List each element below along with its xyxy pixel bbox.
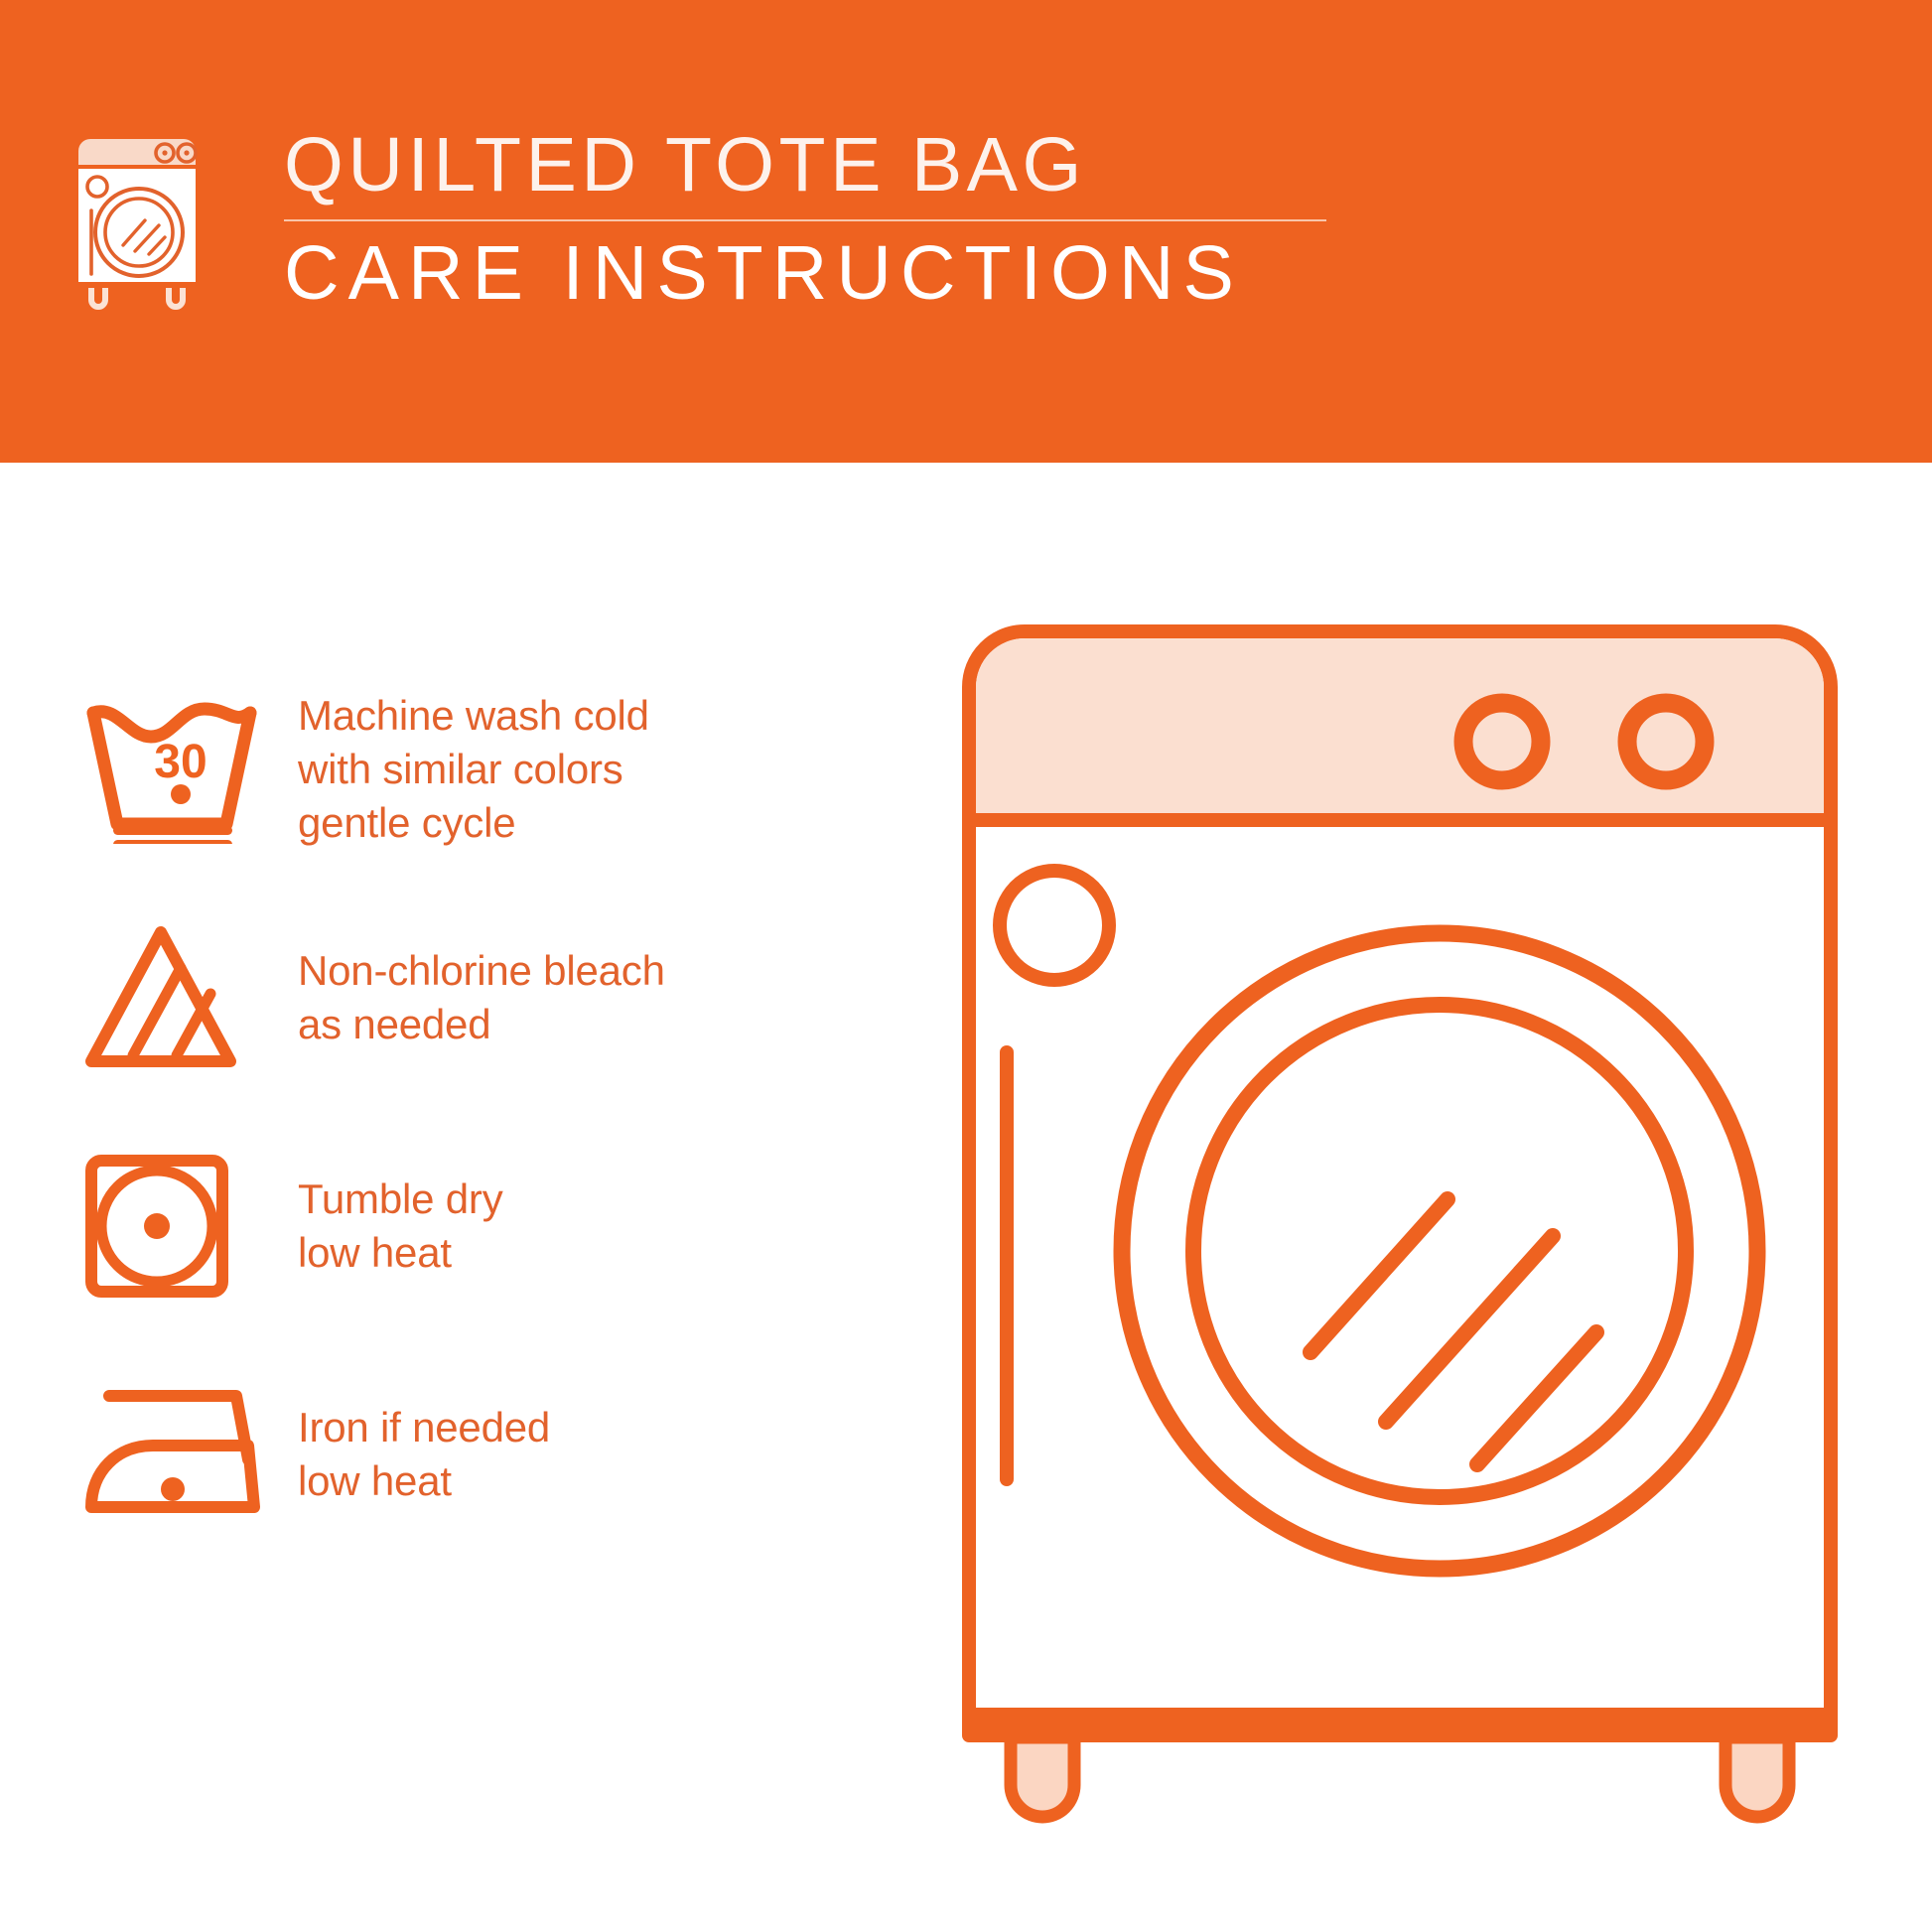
iron-icon xyxy=(77,1380,266,1529)
care-row-tumble-dry: Tumble dry low heat xyxy=(0,1112,953,1340)
care-text-machine-wash: Machine wash cold with similar colors ge… xyxy=(298,689,649,849)
title-divider xyxy=(284,219,1326,221)
leg-right xyxy=(1725,1737,1789,1817)
care-text-bleach: Non-chlorine bleach as needed xyxy=(298,944,665,1051)
bleach-triangle-icon xyxy=(77,918,266,1077)
leg-left xyxy=(1011,1737,1074,1817)
header-title-group: QUILTED TOTE BAG CARE INSTRUCTIONS xyxy=(284,127,1326,312)
care-symbol xyxy=(77,1147,272,1306)
machine-base-bar xyxy=(969,1708,1831,1737)
washing-machine-icon xyxy=(69,133,216,318)
care-symbol: 30 xyxy=(77,695,272,844)
care-symbol xyxy=(77,1380,272,1529)
wash-tub-30-icon: 30 xyxy=(77,695,266,844)
care-instructions-list: 30 Machine wash cold with similar colors… xyxy=(0,655,953,1569)
care-symbol xyxy=(77,918,272,1077)
page-subtitle: CARE INSTRUCTIONS xyxy=(284,235,1326,312)
page-title: QUILTED TOTE BAG xyxy=(284,127,1326,204)
tumble-dry-square-icon xyxy=(77,1147,266,1306)
care-row-machine-wash: 30 Machine wash cold with similar colors… xyxy=(0,655,953,884)
care-text-tumble-dry: Tumble dry low heat xyxy=(298,1173,503,1280)
care-row-iron: Iron if needed low heat xyxy=(0,1340,953,1569)
care-row-bleach: Non-chlorine bleach as needed xyxy=(0,884,953,1112)
care-text-iron: Iron if needed low heat xyxy=(298,1401,550,1508)
front-load-washing-machine-illustration xyxy=(953,616,1906,1837)
header-band: QUILTED TOTE BAG CARE INSTRUCTIONS xyxy=(0,0,1932,463)
wash-temp-label: 30 xyxy=(154,736,207,788)
header-content: QUILTED TOTE BAG CARE INSTRUCTIONS xyxy=(69,127,1326,318)
